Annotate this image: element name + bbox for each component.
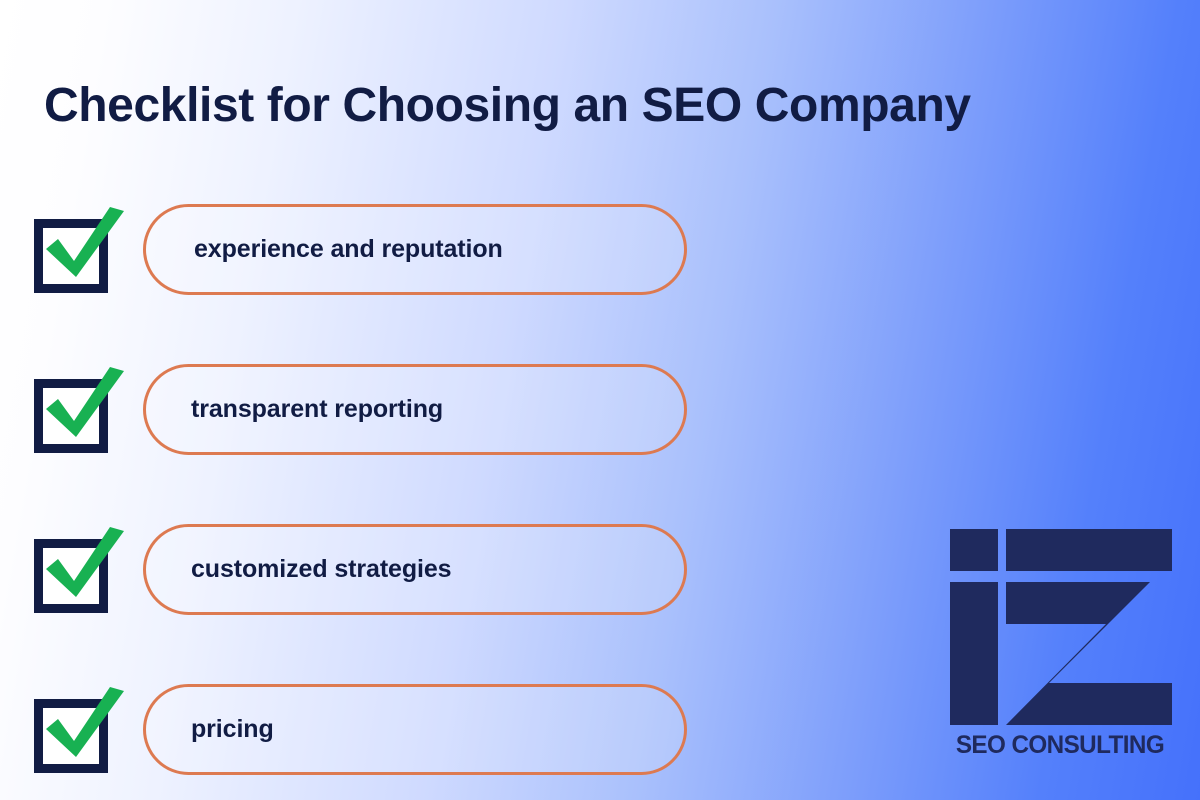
poster-canvas: Checklist for Choosing an SEO Company ex… bbox=[0, 0, 1200, 800]
checkbox-square-icon bbox=[34, 539, 108, 613]
checkbox-2[interactable] bbox=[30, 523, 126, 619]
checkbox-square-icon bbox=[34, 699, 108, 773]
checklist-label-1: transparent reporting bbox=[146, 395, 443, 424]
brand-logo: SEO CONSULTING bbox=[946, 525, 1176, 770]
checklist: experience and reputation transparent re… bbox=[0, 185, 760, 800]
checklist-item[interactable]: transparent reporting bbox=[0, 345, 760, 505]
checklist-label-2: customized strategies bbox=[146, 555, 452, 584]
checklist-item[interactable]: pricing bbox=[0, 665, 760, 800]
checklist-pill-2[interactable]: customized strategies bbox=[143, 524, 687, 615]
iz-monogram-logo-icon bbox=[946, 525, 1176, 725]
checkbox-square-icon bbox=[34, 379, 108, 453]
checklist-label-0: experience and reputation bbox=[146, 235, 503, 264]
checklist-pill-1[interactable]: transparent reporting bbox=[143, 364, 687, 455]
checkbox-0[interactable] bbox=[30, 203, 126, 299]
checklist-pill-0[interactable]: experience and reputation bbox=[143, 204, 687, 295]
checklist-item[interactable]: experience and reputation bbox=[0, 185, 760, 345]
checkbox-1[interactable] bbox=[30, 363, 126, 459]
checklist-item[interactable]: customized strategies bbox=[0, 505, 760, 665]
logo-wordmark: SEO CONSULTING bbox=[949, 731, 1170, 760]
page-title: Checklist for Choosing an SEO Company bbox=[44, 78, 1164, 133]
checkbox-square-icon bbox=[34, 219, 108, 293]
checklist-label-3: pricing bbox=[146, 715, 274, 744]
checklist-pill-3[interactable]: pricing bbox=[143, 684, 687, 775]
checkbox-3[interactable] bbox=[30, 683, 126, 779]
